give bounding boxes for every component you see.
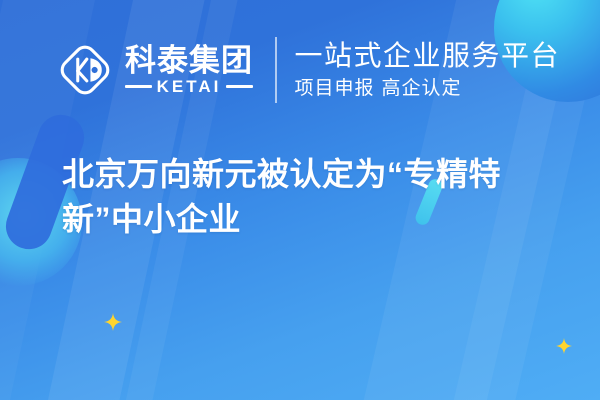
brand-logo[interactable]: 科泰集团 KETAI <box>56 41 253 99</box>
page-title: 北京万向新元被认定为“专精特新”中小企业 <box>62 152 562 243</box>
wordmark-dash-right <box>226 85 253 88</box>
promo-banner: 科泰集团 KETAI 一站式企业服务平台 项目申报 高企认定 北京万向新元被认定… <box>0 0 600 400</box>
sparkle-star-icon <box>556 338 572 354</box>
vertical-divider <box>275 37 277 103</box>
brand-name-cn: 科泰集团 <box>125 45 253 77</box>
wordmark-dash-left <box>125 85 152 88</box>
ketai-diamond-kd-monogram-icon <box>56 41 114 99</box>
tagline-block: 一站式企业服务平台 项目申报 高企认定 <box>295 41 561 99</box>
banner-header: 科泰集团 KETAI 一站式企业服务平台 项目申报 高企认定 <box>0 0 600 140</box>
sparkle-star-icon <box>104 313 122 331</box>
tagline-main: 一站式企业服务平台 <box>295 41 561 72</box>
brand-wordmark: 科泰集团 KETAI <box>125 45 253 96</box>
brand-name-en: KETAI <box>157 78 222 95</box>
tagline-sub: 项目申报 高企认定 <box>295 78 561 99</box>
brand-name-en-row: KETAI <box>125 78 253 95</box>
